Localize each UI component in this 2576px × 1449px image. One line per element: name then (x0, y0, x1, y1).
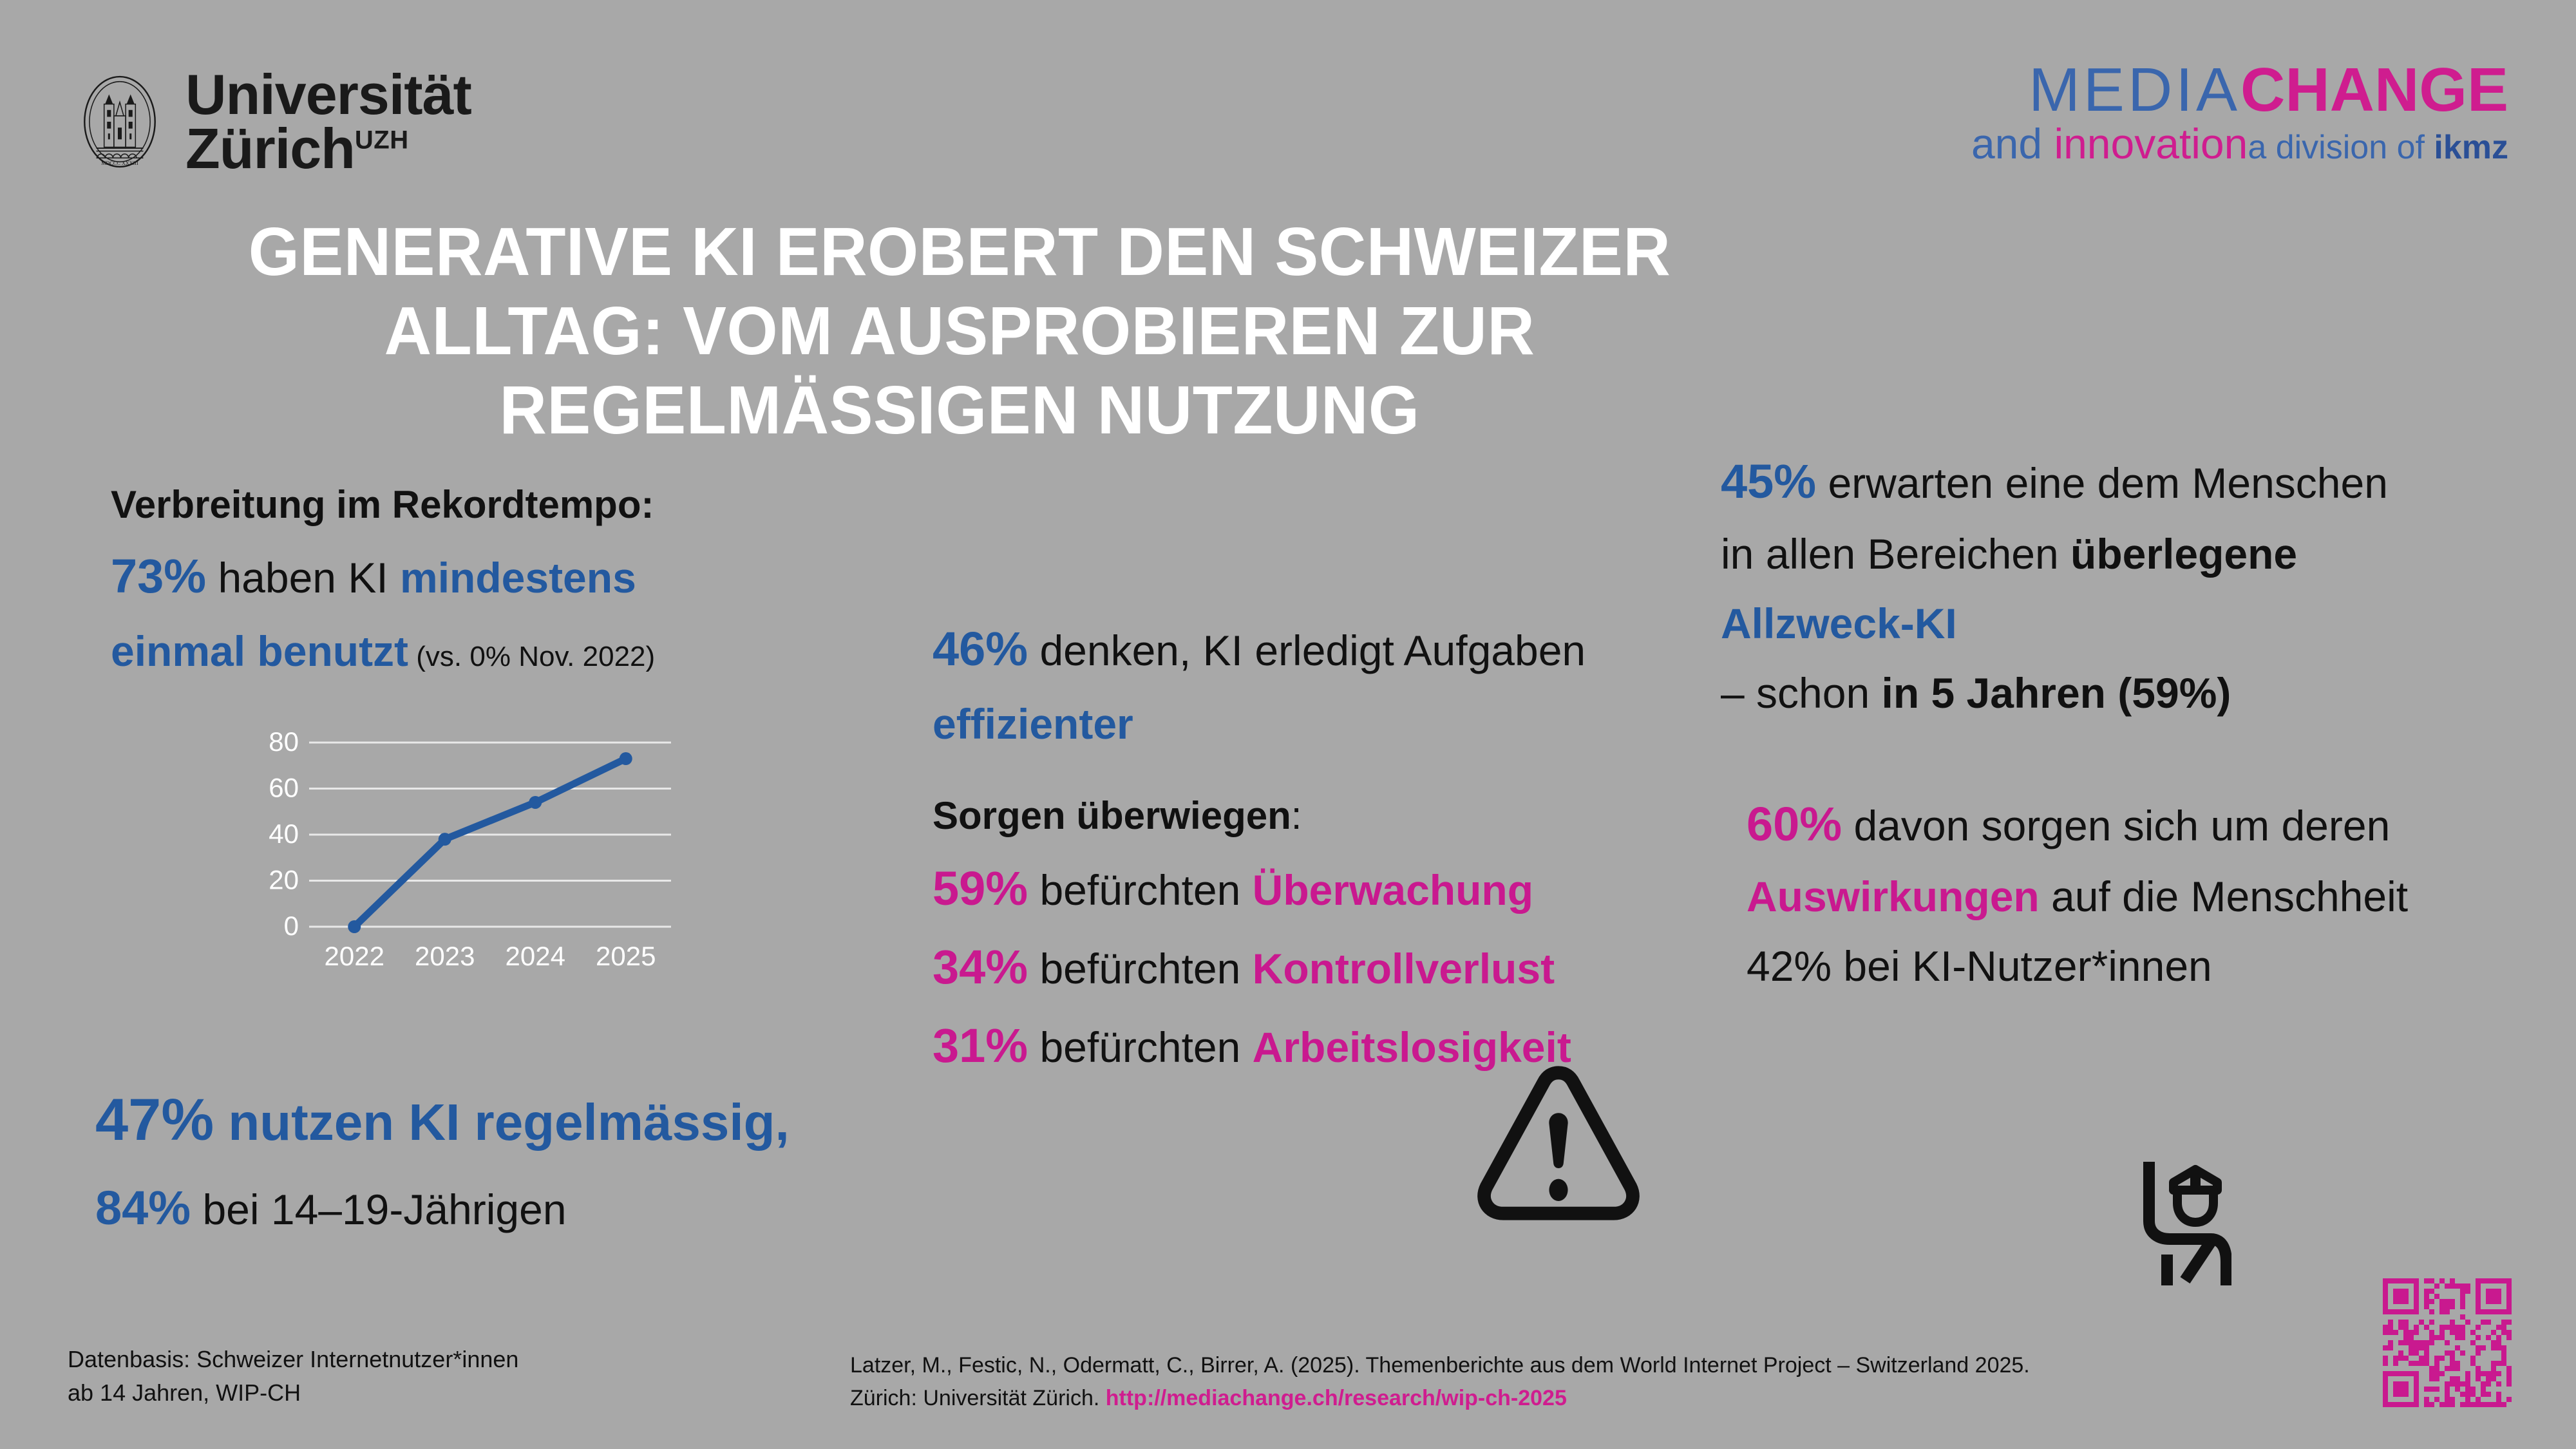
mediachange-innovation: innovation (2054, 120, 2248, 167)
auswirkungen-line3-text: 42% bei KI-Nutzer*innen (1747, 942, 2212, 990)
citation-url[interactable]: http://mediachange.ch/research/wip-ch-20… (1106, 1386, 1567, 1410)
uzh-wordmark: Universität ZürichUZH (185, 68, 471, 176)
uzh-line1: Universität (185, 68, 471, 122)
auswirkungen-line3: 42% bei KI-Nutzer*innen (1747, 939, 2408, 994)
sorgen-row-2: 34% befürchten Kontrollverlust (933, 936, 1571, 998)
verbreitung-line2-mid: haben KI (206, 554, 400, 601)
footer-left-line1: Datenbasis: Schweizer Internetnutzer*inn… (68, 1343, 518, 1376)
sorgen-mid-1: befürchten (1028, 866, 1253, 914)
sorgen-heading: Sorgen überwiegen: (933, 791, 1571, 841)
uzh-seal-icon: MDCCC XXXIII (71, 73, 169, 171)
uzh-superscript: UZH (355, 126, 409, 155)
verbreitung-heading: Verbreitung im Rekordtempo: (111, 480, 655, 530)
auswirkungen-stat: 60% (1747, 797, 1842, 851)
infographic-canvas: MDCCC XXXIII Universität ZürichUZH MEDIA… (0, 0, 2576, 1449)
svg-text:MDCCC XXXIII: MDCCC XXXIII (101, 160, 138, 166)
verbreitung-line2: 73% haben KI mindestens (111, 545, 655, 607)
sorgen-heading-colon: : (1291, 794, 1302, 837)
mediachange-line2: and innovationa division of ikmz (1971, 122, 2508, 165)
svg-text:0: 0 (284, 911, 299, 941)
allzweck-line2-bold: überlegene (2070, 530, 2297, 578)
sorgen-stat-2: 34% (933, 940, 1028, 994)
svg-text:20: 20 (269, 865, 299, 895)
stat-block-regelmaessig: 47% nutzen KI regelmässig, 84% bei 14–19… (95, 1082, 790, 1239)
adoption-line-chart: 0204060802022202320242025 (232, 731, 683, 982)
qr-code-icon[interactable] (2383, 1278, 2512, 1407)
auswirkungen-line1-rest: davon sorgen sich um deren (1842, 802, 2390, 849)
citation-line2-plain: Zürich: Universität Zürich. (850, 1386, 1106, 1410)
regelmaessig-line1-rest: nutzen KI regelmässig, (214, 1094, 790, 1151)
sorgen-stat-3: 31% (933, 1019, 1028, 1072)
regelmaessig-stat: 47% (95, 1087, 214, 1153)
auswirkungen-line2: Auswirkungen auf die Menschheit (1747, 869, 2408, 925)
svg-text:2025: 2025 (596, 941, 656, 971)
footer-datenbasis: Datenbasis: Schweizer Internetnutzer*inn… (68, 1343, 518, 1410)
footer-citation: Latzer, M., Festic, N., Odermatt, C., Bi… (850, 1349, 2030, 1415)
auswirkungen-line2-emph: Auswirkungen (1747, 873, 2040, 920)
regelmaessig-line1: 47% nutzen KI regelmässig, (95, 1082, 790, 1159)
effizienter-line2: effizienter (933, 697, 1586, 752)
svg-text:60: 60 (269, 773, 299, 803)
regelmaessig-stat2: 84% (95, 1181, 191, 1235)
warning-triangle-icon (1475, 1063, 1642, 1224)
allzweck-line4-prefix: – schon (1721, 669, 1882, 717)
uzh-line2: Zürich (185, 117, 355, 180)
svg-text:40: 40 (269, 819, 299, 849)
allzweck-line3: Allzweck-KI (1721, 596, 2388, 652)
mediachange-media: MEDIA (2029, 55, 2240, 124)
police-officer-icon (2103, 1146, 2231, 1288)
sorgen-mid-2: befürchten (1028, 945, 1253, 992)
chart-svg: 0204060802022202320242025 (232, 731, 683, 982)
effizienter-emph: effizienter (933, 700, 1133, 748)
allzweck-line1-rest: erwarten eine dem Menschen (1816, 459, 2388, 507)
allzweck-stat: 45% (1721, 455, 1816, 508)
verbreitung-line2-emph: mindestens (400, 554, 636, 601)
mediachange-division-of: a division of (2248, 129, 2434, 166)
mediachange-change: CHANGE (2240, 55, 2508, 124)
footer-left-line2: ab 14 Jahren, WIP-CH (68, 1376, 518, 1410)
uzh-logo: MDCCC XXXIII Universität ZürichUZH (71, 68, 471, 176)
allzweck-line1: 45% erwarten eine dem Menschen (1721, 451, 2388, 513)
effizienter-text: denken, KI erledigt Aufgaben (1028, 627, 1586, 674)
effizienter-line1: 46% denken, KI erledigt Aufgaben (933, 618, 1586, 680)
auswirkungen-line2-rest: auf die Menschheit (2040, 873, 2408, 920)
sorgen-emph-1: Überwachung (1253, 866, 1533, 914)
page-title: GENERATIVE KI EROBERT DEN SCHWEIZER ALLT… (224, 213, 1696, 450)
verbreitung-stat: 73% (111, 549, 206, 603)
sorgen-row-1: 59% befürchten Überwachung (933, 858, 1571, 920)
sorgen-mid-3: befürchten (1028, 1023, 1253, 1071)
stat-block-effizienter: 46% denken, KI erledigt Aufgaben effizie… (933, 618, 1586, 752)
mediachange-and: and (1971, 120, 2054, 167)
mediachange-ikmz: ikmz (2434, 129, 2508, 166)
sorgen-stat-1: 59% (933, 862, 1028, 915)
svg-text:2024: 2024 (506, 941, 565, 971)
citation-line2: Zürich: Universität Zürich. http://media… (850, 1382, 2030, 1415)
auswirkungen-line1: 60% davon sorgen sich um deren (1747, 793, 2408, 855)
svg-text:2022: 2022 (325, 941, 384, 971)
allzweck-line2-plain: in allen Bereichen (1721, 530, 2070, 578)
sorgen-heading-emph: Sorgen überwiegen (933, 794, 1291, 837)
verbreitung-line3-note: (vs. 0% Nov. 2022) (408, 641, 655, 672)
stat-block-verbreitung: Verbreitung im Rekordtempo: 73% haben KI… (111, 480, 655, 679)
svg-text:80: 80 (269, 731, 299, 757)
mediachange-line1: MEDIACHANGE (1971, 59, 2508, 121)
regelmaessig-line2-rest: bei 14–19-Jährigen (191, 1186, 566, 1233)
verbreitung-line3: einmal benutzt (vs. 0% Nov. 2022) (111, 624, 655, 679)
allzweck-line2: in allen Bereichen überlegene (1721, 527, 2388, 582)
allzweck-line3-emph: Allzweck-KI (1721, 600, 1957, 647)
citation-line1: Latzer, M., Festic, N., Odermatt, C., Bi… (850, 1349, 2030, 1382)
mediachange-logo: MEDIACHANGE and innovationa division of … (1971, 59, 2508, 165)
stat-block-auswirkungen: 60% davon sorgen sich um deren Auswirkun… (1747, 793, 2408, 1009)
sorgen-emph-2: Kontrollverlust (1253, 945, 1555, 992)
allzweck-line4: – schon in 5 Jahren (59%) (1721, 666, 2388, 721)
effizienter-stat: 46% (933, 622, 1028, 676)
regelmaessig-line2: 84% bei 14–19-Jährigen (95, 1177, 790, 1239)
verbreitung-line3-emph: einmal benutzt (111, 627, 408, 675)
stat-block-sorgen: Sorgen überwiegen: 59% befürchten Überwa… (933, 791, 1571, 1077)
stat-block-allzweck: 45% erwarten eine dem Menschen in allen … (1721, 451, 2388, 735)
svg-text:2023: 2023 (415, 941, 475, 971)
allzweck-line4-bold: in 5 Jahren (59%) (1882, 669, 2231, 717)
